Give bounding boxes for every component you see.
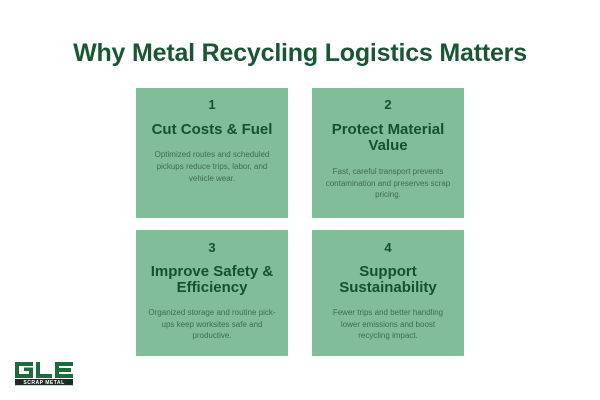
card-number: 1 (208, 97, 215, 113)
card-number: 3 (208, 240, 215, 256)
slide-canvas: Why Metal Recycling Logistics Matters 1 … (0, 0, 600, 400)
page-title: Why Metal Recycling Logistics Matters (0, 39, 600, 68)
svg-text:SCRAP METAL: SCRAP METAL (23, 380, 64, 386)
benefit-card-2[interactable]: 2 Protect Material Value Fast, careful t… (312, 88, 464, 218)
card-heading: Support Sustainability (320, 264, 456, 298)
card-heading: Protect Material Value (320, 122, 456, 156)
card-body: Optimized routes and scheduled pickups r… (144, 149, 280, 184)
benefit-card-1[interactable]: 1 Cut Costs & Fuel Optimized routes and … (136, 88, 288, 218)
card-heading: Cut Costs & Fuel (150, 122, 275, 139)
gle-scrap-metal-logo-icon: SCRAP METAL (13, 360, 75, 386)
card-body: Fewer trips and better handling lower em… (320, 307, 456, 342)
benefit-card-grid: 1 Cut Costs & Fuel Optimized routes and … (136, 88, 464, 356)
card-body: Fast, careful transport prevents contami… (320, 166, 456, 201)
card-body: Organized storage and routine pick-ups k… (144, 307, 280, 342)
gle-scrap-metal-logo: SCRAP METAL (13, 360, 75, 386)
card-number: 2 (384, 97, 391, 113)
card-number: 4 (384, 240, 391, 256)
card-heading: Improve Safety & Efficiency (144, 264, 280, 298)
benefit-card-4[interactable]: 4 Support Sustainability Fewer trips and… (312, 230, 464, 356)
benefit-card-3[interactable]: 3 Improve Safety & Efficiency Organized … (136, 230, 288, 356)
